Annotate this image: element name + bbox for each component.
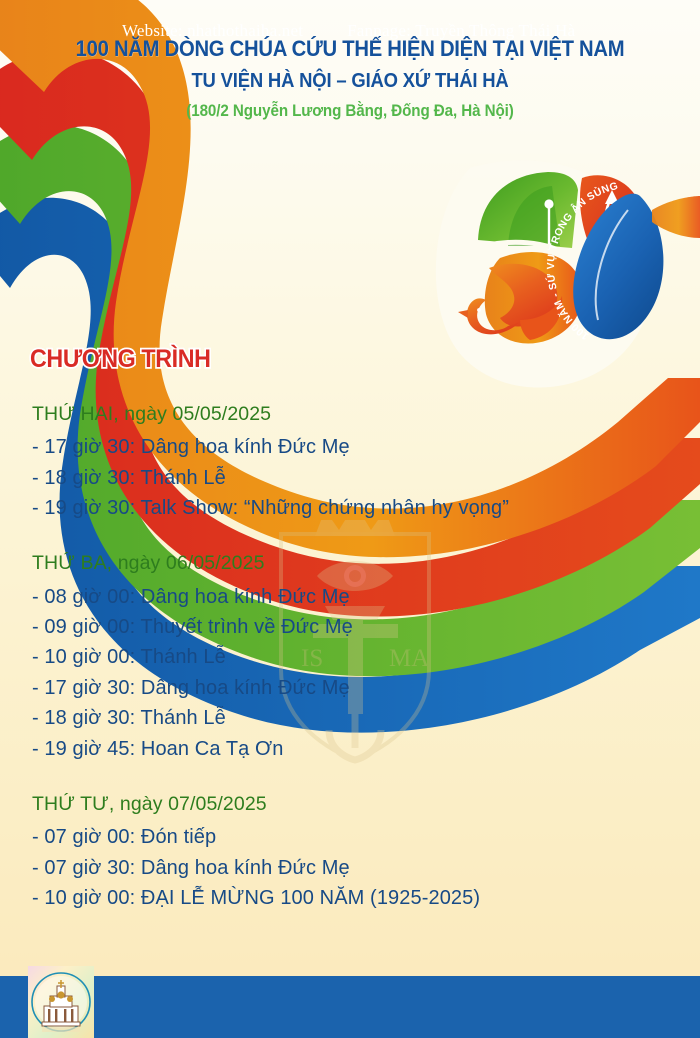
schedule-item: - 17 giờ 30: Dâng hoa kính Đức Mẹ	[32, 432, 672, 462]
day-block-wednesday: THỨ TƯ, ngày 07/05/2025 - 07 giờ 00: Đón…	[32, 790, 672, 913]
schedule-item: - 10 giờ 00: Thánh Lễ	[32, 642, 672, 672]
schedule-item: - 07 giờ 30: Dâng hoa kính Đức Mẹ	[32, 853, 672, 883]
title-line-1: 100 NĂM DÒNG CHÚA CỨU THẾ HIỆN DIỆN TẠI …	[35, 36, 665, 62]
day-title: THỨ HAI, ngày 05/05/2025	[32, 400, 672, 429]
day-block-monday: THỨ HAI, ngày 05/05/2025 - 17 giờ 30: Dâ…	[32, 400, 672, 523]
schedule-item: - 19 giờ 45: Hoan Ca Tạ Ơn	[32, 734, 672, 764]
title-line-2: TU VIỆN HÀ NỘI – GIÁO XỨ THÁI HÀ	[35, 69, 665, 93]
day-title: THỨ BA, ngày 06/05/2025	[32, 549, 672, 578]
schedule-item: - 08 giờ 00: Dâng hoa kính Đức Mẹ	[32, 582, 672, 612]
day-title: THỨ TƯ, ngày 07/05/2025	[32, 790, 672, 819]
program-schedule: THỨ HAI, ngày 05/05/2025 - 17 giờ 30: Dâ…	[32, 400, 672, 913]
thai-ha-church-emblem-icon	[28, 966, 94, 1038]
schedule-item: - 09 giờ 00: Thuyết trình về Đức Mẹ	[32, 612, 672, 642]
address-line: (180/2 Nguyễn Lương Bằng, Đống Đa, Hà Nộ…	[28, 102, 672, 121]
schedule-item: - 17 giờ 30: Dâng hoa kính Đức Mẹ	[32, 673, 672, 703]
day-item-list: - 17 giờ 30: Dâng hoa kính Đức Mẹ - 18 g…	[32, 432, 672, 523]
schedule-item: - 18 giờ 30: Thánh Lễ	[32, 703, 672, 733]
poster-header: 100 NĂM DÒNG CHÚA CỨU THẾ HIỆN DIỆN TẠI …	[0, 36, 700, 121]
footer-bar	[0, 976, 700, 1038]
day-item-list: - 08 giờ 00: Dâng hoa kính Đức Mẹ - 09 g…	[32, 582, 672, 764]
program-heading: CHƯƠNG TRÌNH	[30, 345, 211, 374]
schedule-item: - 10 giờ 00: ĐẠI LỄ MỪNG 100 NĂM (1925-2…	[32, 883, 672, 913]
schedule-item: - 07 giờ 00: Đón tiếp	[32, 822, 672, 852]
schedule-item: - 19 giờ 30: Talk Show: “Những chứng nhâ…	[32, 493, 672, 523]
poster-root: 100 NĂM - SỨ VỤ TRONG ÂN SỦNG IS MA	[0, 0, 700, 1038]
logo-curved-text: 100 NĂM - SỨ VỤ TRONG ÂN SỦNG	[544, 181, 619, 341]
day-item-list: - 07 giờ 00: Đón tiếp - 07 giờ 30: Dâng …	[32, 822, 672, 913]
schedule-item: - 18 giờ 30: Thánh Lễ	[32, 463, 672, 493]
day-block-tuesday: THỨ BA, ngày 06/05/2025 - 08 giờ 00: Dân…	[32, 549, 672, 764]
